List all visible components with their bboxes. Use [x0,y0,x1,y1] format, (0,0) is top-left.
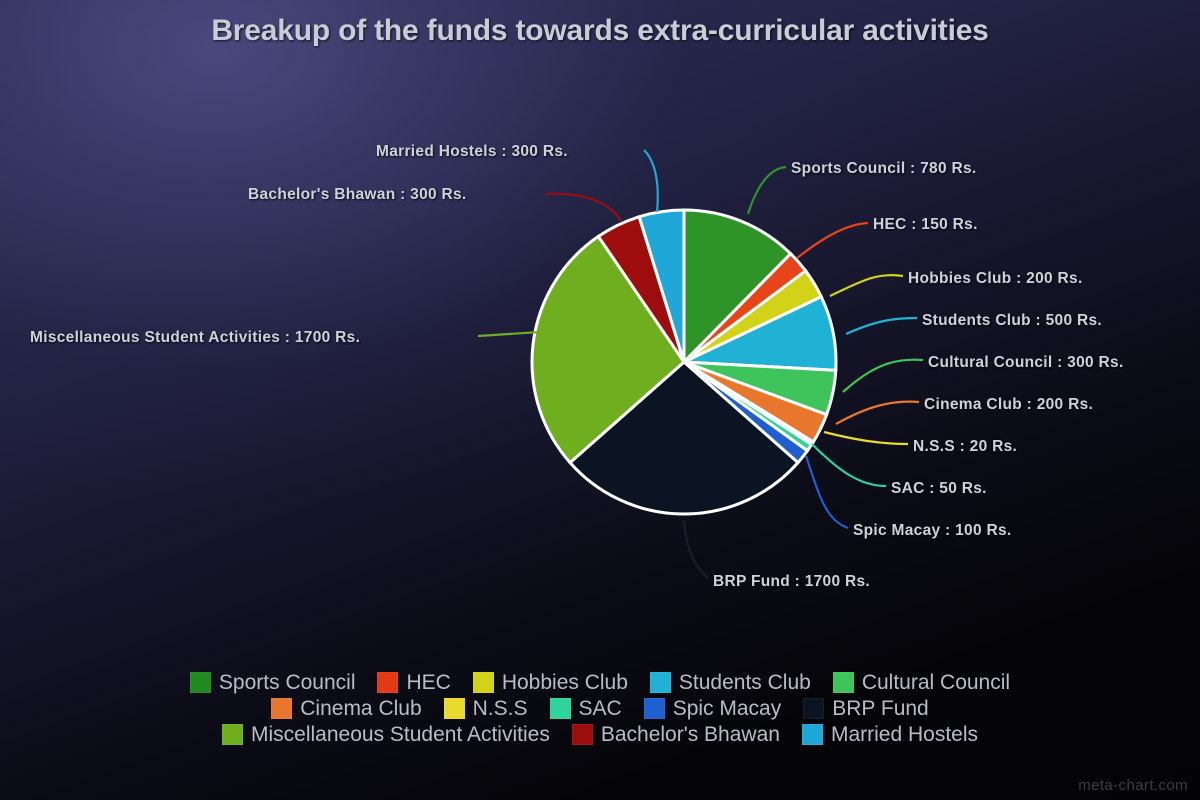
leader-sac [812,444,886,486]
legend-label: Miscellaneous Student Activities [251,724,550,745]
leader-students-club [846,318,917,334]
callout-brp-fund: BRP Fund : 1700 Rs. [713,573,870,591]
leader-married-hostels [644,150,658,212]
legend-row: Cinema ClubN.S.SSACSpic MacayBRP Fund [271,698,928,719]
legend-item[interactable]: Married Hostels [802,724,978,745]
legend-swatch-icon [803,698,824,719]
legend-swatch-icon [473,672,494,693]
legend-swatch-icon [271,698,292,719]
legend-label: Hobbies Club [502,672,628,693]
leader-nss [824,432,908,444]
leader-spic-macay [806,456,848,528]
legend-row: Sports CouncilHECHobbies ClubStudents Cl… [190,672,1010,693]
legend-label: Cinema Club [300,698,421,719]
callout-spic-macay: Spic Macay : 100 Rs. [853,522,1012,540]
legend-label: HEC [406,672,450,693]
legend-label: Bachelor's Bhawan [601,724,780,745]
legend-swatch-icon [802,724,823,745]
leader-brp-fund [684,520,708,578]
legend-item[interactable]: Sports Council [190,672,356,693]
legend-swatch-icon [377,672,398,693]
legend-item[interactable]: Cultural Council [833,672,1010,693]
leader-bachelors-bhawan [546,194,622,222]
leader-hobbies-club [830,275,903,296]
legend-swatch-icon [833,672,854,693]
legend-item[interactable]: Students Club [650,672,811,693]
legend-label: N.S.S [473,698,528,719]
legend-item[interactable]: Bachelor's Bhawan [572,724,780,745]
legend: Sports CouncilHECHobbies ClubStudents Cl… [0,672,1200,745]
pie-slice-group [532,210,836,514]
legend-label: Cultural Council [862,672,1010,693]
legend-label: Sports Council [219,672,356,693]
leader-cultural-council [843,360,923,392]
legend-label: Students Club [679,672,811,693]
legend-swatch-icon [222,724,243,745]
callout-cultural-council: Cultural Council : 300 Rs. [928,354,1124,372]
legend-swatch-icon [572,724,593,745]
callout-cinema-club: Cinema Club : 200 Rs. [924,396,1093,414]
leader-sports-council [748,167,786,214]
legend-item[interactable]: Miscellaneous Student Activities [222,724,550,745]
chart-root: Breakup of the funds towards extra-curri… [0,0,1200,800]
legend-item[interactable]: HEC [377,672,450,693]
legend-label: SAC [579,698,622,719]
legend-swatch-icon [444,698,465,719]
legend-swatch-icon [190,672,211,693]
legend-item[interactable]: Spic Macay [644,698,782,719]
legend-item[interactable]: Cinema Club [271,698,421,719]
callout-hec: HEC : 150 Rs. [873,216,978,234]
legend-label: Spic Macay [673,698,782,719]
callout-miscellaneous: Miscellaneous Student Activities : 1700 … [30,329,360,347]
legend-row: Miscellaneous Student ActivitiesBachelor… [222,724,978,745]
callout-sports-council: Sports Council : 780 Rs. [791,160,977,178]
watermark: meta-chart.com [1078,777,1188,794]
leader-hec [797,223,868,258]
legend-item[interactable]: N.S.S [444,698,528,719]
legend-label: BRP Fund [832,698,929,719]
callout-married-hostels: Married Hostels : 300 Rs. [376,143,568,161]
callout-hobbies-club: Hobbies Club : 200 Rs. [908,270,1083,288]
callout-students-club: Students Club : 500 Rs. [922,312,1102,330]
callout-bachelors-bhawan: Bachelor's Bhawan : 300 Rs. [248,186,467,204]
legend-swatch-icon [644,698,665,719]
legend-item[interactable]: Hobbies Club [473,672,628,693]
legend-label: Married Hostels [831,724,978,745]
callout-sac: SAC : 50 Rs. [891,480,987,498]
callout-nss: N.S.S : 20 Rs. [913,438,1017,456]
legend-swatch-icon [550,698,571,719]
legend-item[interactable]: SAC [550,698,622,719]
legend-swatch-icon [650,672,671,693]
legend-item[interactable]: BRP Fund [803,698,929,719]
leader-cinema-club [836,402,919,424]
